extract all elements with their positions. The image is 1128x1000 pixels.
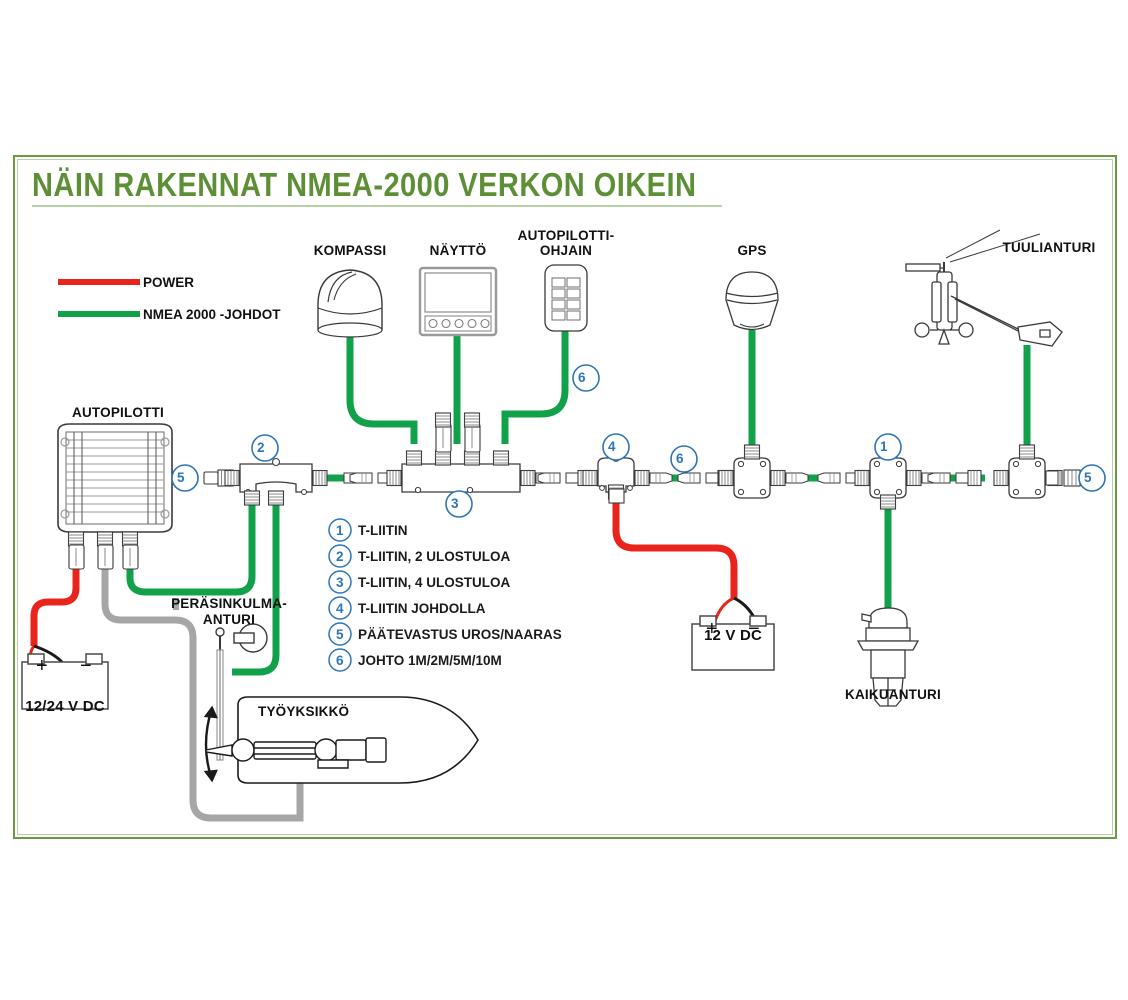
- legend-label-power: POWER: [143, 275, 194, 290]
- callout-terminator-right: 5: [1084, 470, 1092, 485]
- t-connector-with-cable: [583, 455, 649, 503]
- battery-right-minus: −: [742, 618, 766, 640]
- battery-left-minus: −: [74, 655, 98, 677]
- callout-t-four-outputs: 3: [451, 496, 459, 511]
- terminator-right: [1046, 470, 1080, 486]
- compass-device: [318, 270, 382, 337]
- key-label-5: PÄÄTEVASTUS UROS/NAARAS: [358, 627, 562, 642]
- key-label-4: T-LIITIN JOHDOLLA: [358, 601, 486, 616]
- display-device: [420, 268, 496, 335]
- key-num-3: 3: [336, 575, 344, 590]
- key-num-5: 5: [336, 627, 344, 642]
- battery-left-plus: +: [30, 655, 54, 677]
- key-label-2: T-LIITIN, 2 ULOSTULOA: [358, 549, 510, 564]
- key-num-4: 4: [336, 601, 344, 616]
- callout-t-plain: 1: [880, 439, 888, 454]
- callout-terminator-left: 5: [177, 470, 185, 485]
- label-drive-unit: TYÖYKSIKKÖ: [258, 704, 378, 719]
- battery-right-plus: +: [700, 618, 724, 640]
- callout-t-with-cable: 4: [608, 439, 616, 454]
- label-rudder-sensor-line2: ANTURI: [160, 612, 298, 627]
- legend-label-nmea: NMEA 2000 -JOHDOT: [143, 307, 281, 322]
- key-num-1: 1: [336, 523, 344, 538]
- label-autopilot-control-line2: OHJAIN: [506, 243, 626, 258]
- t-connector-wind: [994, 445, 1045, 498]
- callout-bubbles: [172, 365, 1105, 517]
- autopilot-unit: [58, 424, 172, 569]
- gps-device: [726, 272, 778, 330]
- label-autopilot-control-line1: AUTOPILOTTI-: [506, 228, 626, 243]
- diagram-canvas: NÄIN RAKENNAT NMEA-2000 VERKON OIKEIN: [0, 0, 1128, 1000]
- callout-cable-mid: 6: [676, 451, 684, 466]
- key-label-6: JOHTO 1M/2M/5M/10M: [358, 653, 502, 668]
- label-wind-sensor: TUULIANTURI: [984, 240, 1114, 255]
- label-battery-left: 12/24 V DC: [10, 699, 120, 716]
- callout-cable-autopilot-ctrl: 6: [578, 370, 586, 385]
- t-connector-plain: [855, 458, 921, 509]
- label-battery-right: 12 V DC: [678, 628, 788, 645]
- label-rudder-sensor-line1: PERÄSINKULMA-: [160, 596, 298, 611]
- key-label-3: T-LIITIN, 4 ULOSTULOA: [358, 575, 510, 590]
- diagram-artwork: [0, 0, 1128, 1000]
- label-display: NÄYTTÖ: [412, 243, 504, 258]
- t-connector-gps: [719, 445, 785, 498]
- key-num-6: 6: [336, 653, 344, 668]
- label-transducer: KAIKUANTURI: [828, 687, 958, 702]
- key-label-1: T-LIITIN: [358, 523, 408, 538]
- label-gps: GPS: [716, 243, 788, 258]
- key-num-2: 2: [336, 549, 344, 564]
- autopilot-control-device: [545, 265, 587, 331]
- label-autopilot: AUTOPILOTTI: [58, 405, 178, 420]
- label-compass: KOMPASSI: [300, 243, 400, 258]
- rudder-rotation-arrow: [206, 708, 216, 780]
- callout-t-two-outputs: 2: [257, 440, 265, 455]
- t-connector-2-outputs: [225, 459, 327, 506]
